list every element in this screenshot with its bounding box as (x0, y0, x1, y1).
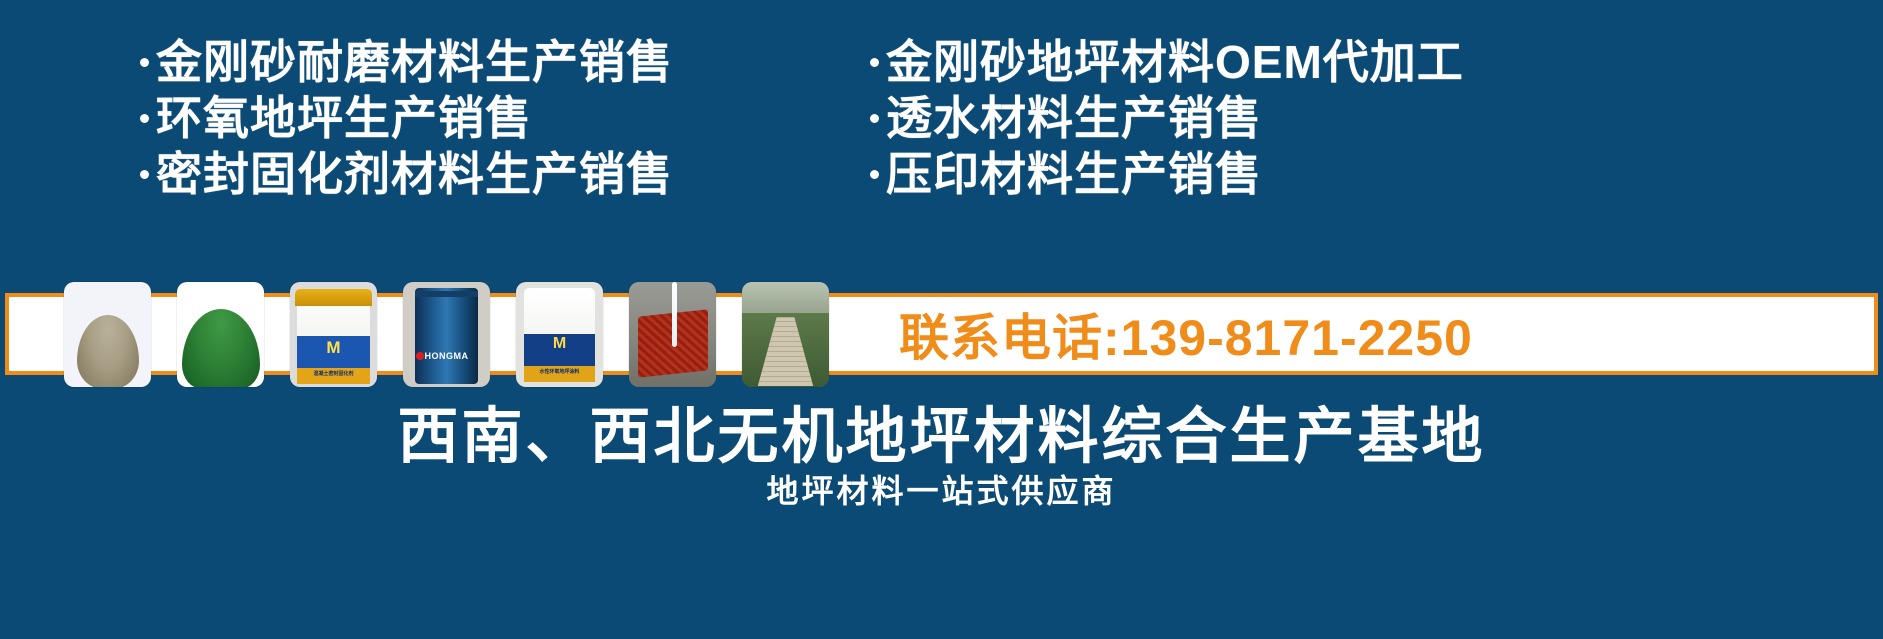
service-label: 透水材料生产销售 (886, 90, 1262, 146)
pail-lid (295, 289, 372, 306)
contact-phone-number[interactable]: 联系电话:139-8171-2250 (899, 298, 1473, 370)
drum-ring (415, 291, 478, 297)
service-label: 环氧地坪生产销售 (156, 90, 532, 146)
product-showcase-panel: M 混凝土密封固化剂 HONGMA M 水性环氧地坪涂料 (5, 293, 1878, 375)
drum-body (415, 288, 478, 385)
bullet-dot-icon (870, 170, 879, 179)
product-thumbnail-strip: M 混凝土密封固化剂 HONGMA M 水性环氧地坪涂料 (64, 297, 829, 371)
bullet-dot-icon (140, 58, 149, 67)
bullet-dot-icon (140, 114, 149, 123)
bullet-dot-icon (870, 114, 879, 123)
service-item-right-1: 金刚砂地坪材料OEM代加工 (870, 34, 1883, 90)
product-thumb-concrete-sealer-pail: M 混凝土密封固化剂 (290, 282, 377, 387)
product-thumb-grey-wear-resistant-powder (64, 282, 151, 387)
service-item-right-2: 透水材料生产销售 (870, 90, 1883, 146)
bullet-dot-icon (140, 170, 149, 179)
product-thumb-epoxy-floor-coating-pail: M 水性环氧地坪涂料 (516, 282, 603, 387)
brand-mark-icon: M (553, 336, 566, 352)
pour-stream (672, 282, 677, 347)
brand-mark-icon: M (326, 339, 340, 356)
product-thumb-green-wear-resistant-powder (177, 282, 264, 387)
product-thumb-hongma-blue-drum: HONGMA (403, 282, 490, 387)
bullet-dot-icon (870, 58, 879, 67)
service-label: 密封固化剂材料生产销售 (156, 146, 673, 202)
service-item-left-3: 密封固化剂材料生产销售 (140, 146, 870, 202)
services-left-column: 金刚砂耐磨材料生产销售 环氧地坪生产销售 密封固化剂材料生产销售 (0, 34, 870, 234)
banner-subheadline: 地坪材料一站式供应商 (0, 466, 1883, 512)
service-item-left-2: 环氧地坪生产销售 (140, 90, 870, 146)
service-label: 金刚砂耐磨材料生产销售 (156, 34, 673, 90)
banner-headline: 西南、西北无机地坪材料综合生产基地 (0, 386, 1883, 475)
pail-caption: 混凝土密封固化剂 (290, 370, 377, 377)
service-label: 金刚砂地坪材料OEM代加工 (886, 34, 1464, 90)
sky-area (742, 282, 829, 318)
service-item-left-1: 金刚砂耐磨材料生产销售 (140, 34, 870, 90)
pail-caption: 水性环氧地坪涂料 (516, 368, 603, 375)
product-thumb-stamped-concrete-path (742, 282, 829, 387)
promotional-banner: 金刚砂耐磨材料生产销售 环氧地坪生产销售 密封固化剂材料生产销售 金刚砂地坪材料… (0, 0, 1883, 639)
service-item-right-3: 压印材料生产销售 (870, 146, 1883, 202)
service-label: 压印材料生产销售 (886, 146, 1262, 202)
services-right-column: 金刚砂地坪材料OEM代加工 透水材料生产销售 压印材料生产销售 (870, 34, 1883, 234)
drum-brand-text: HONGMA (403, 351, 490, 361)
services-section: 金刚砂耐磨材料生产销售 环氧地坪生产销售 密封固化剂材料生产销售 金刚砂地坪材料… (0, 34, 1883, 234)
product-thumb-red-permeable-paving (629, 282, 716, 387)
